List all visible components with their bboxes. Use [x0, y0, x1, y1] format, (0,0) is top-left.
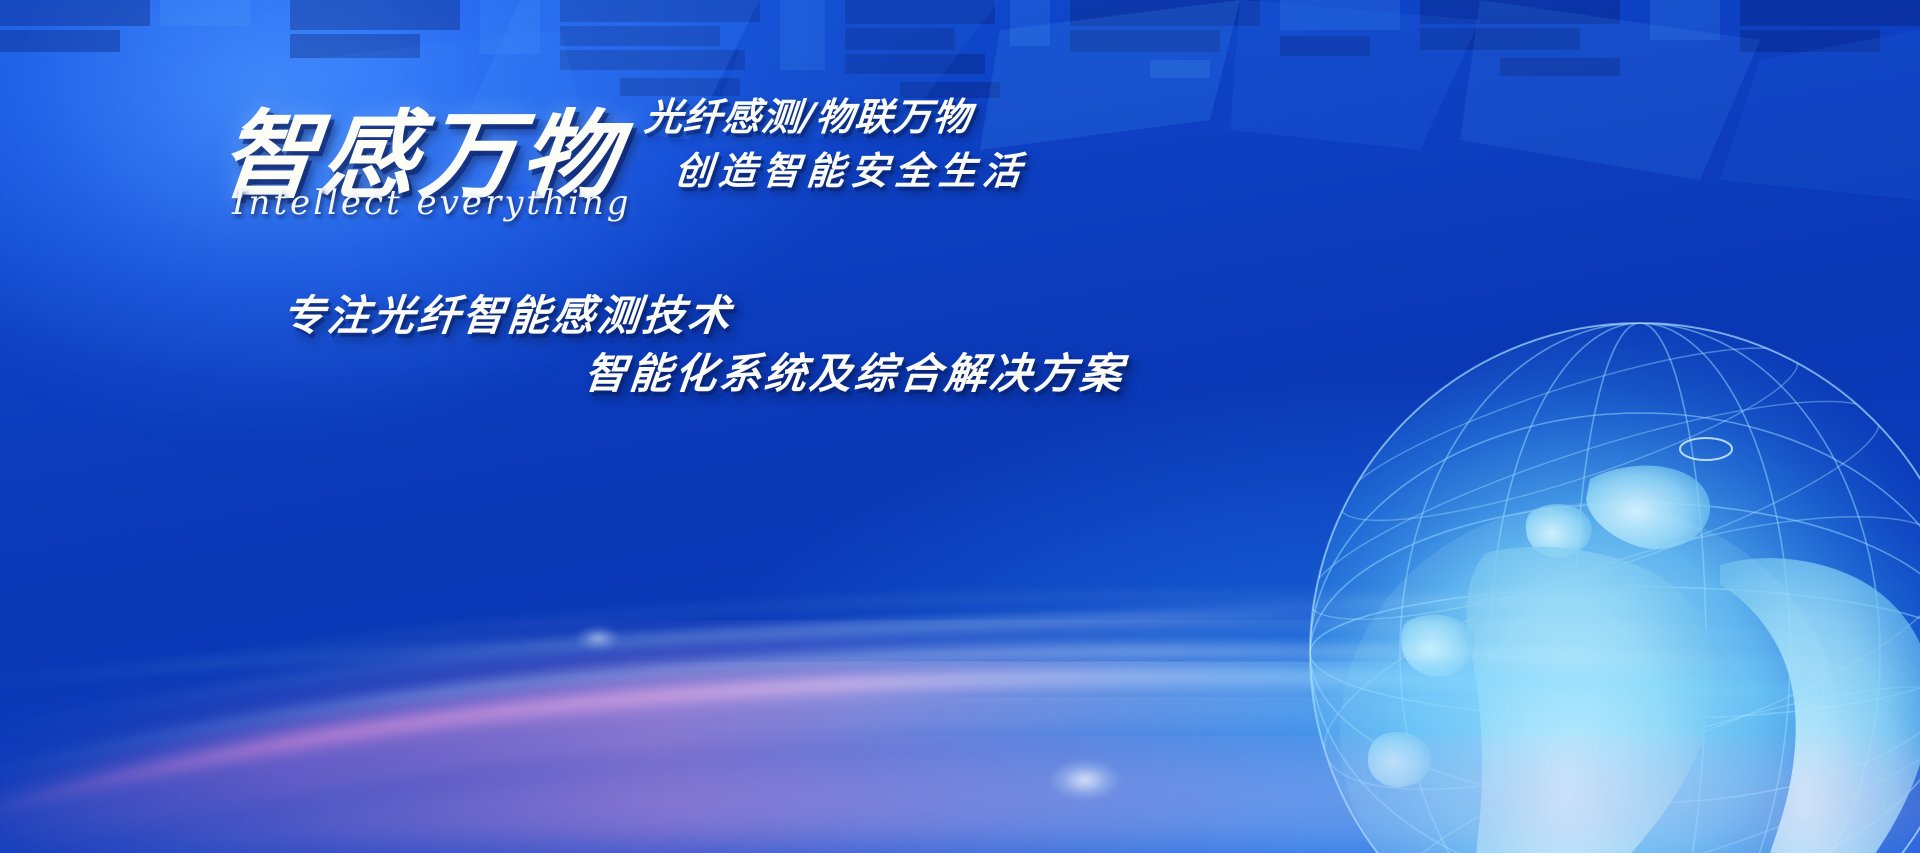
lens-flare-icon [575, 625, 621, 651]
globe-wireframe-graphic [1290, 303, 1920, 853]
promo-banner: 智感万物 Intellect everything 光纤感测/物联万物 创造智能… [0, 0, 1920, 853]
banner-tagline-2: 创造智能安全生活 [673, 140, 1030, 195]
banner-message-2: 智能化系统及综合解决方案 [582, 340, 1128, 401]
lens-flare-secondary-icon [1050, 760, 1120, 800]
banner-tagline-1: 光纤感测/物联万物 [643, 86, 975, 141]
banner-message-1: 专注光纤智能感测技术 [280, 282, 736, 343]
banner-subheadline: Intellect everything [232, 183, 632, 223]
